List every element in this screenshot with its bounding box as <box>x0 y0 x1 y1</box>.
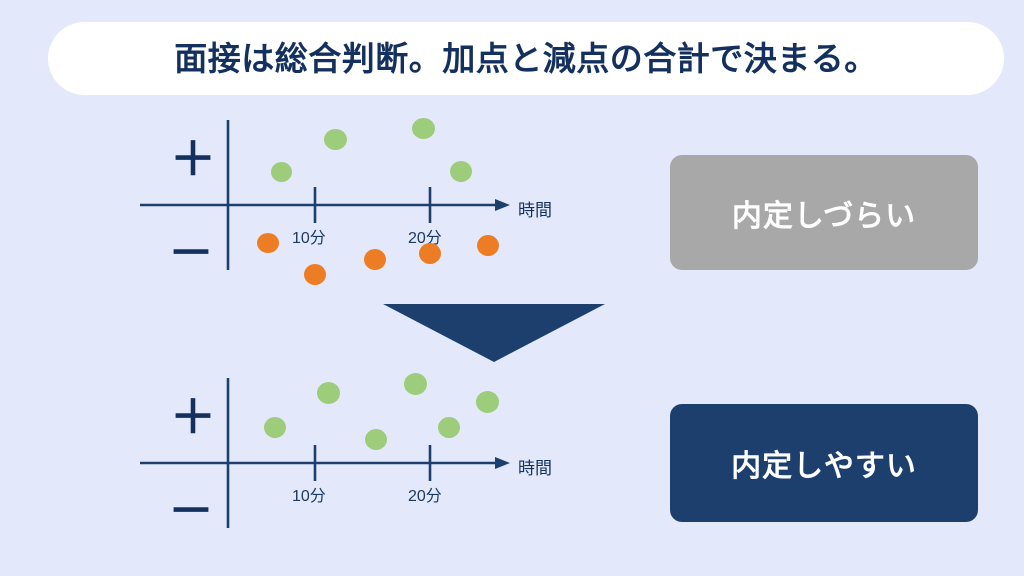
tick-label-10min-before: 10分 <box>292 224 326 248</box>
minus-sign-before: － <box>168 230 214 276</box>
plus-sign-after: ＋ <box>170 394 216 440</box>
data-point-orange <box>304 264 326 285</box>
axis-label-time-before: 時間 <box>518 196 552 221</box>
slide-root: 面接は総合判断。加点と減点の合計で決まる。 ＋ － 10分 20分 時間 <box>0 0 1024 576</box>
status-badge-hard-label: 内定しづらい <box>732 191 916 235</box>
data-point-green <box>412 118 435 139</box>
data-point-green <box>365 429 387 450</box>
data-point-green <box>450 161 472 182</box>
downward-arrow-icon <box>383 304 605 362</box>
data-point-orange <box>364 249 386 270</box>
data-point-orange <box>477 235 499 256</box>
title-banner: 面接は総合判断。加点と減点の合計で決まる。 <box>48 22 1004 95</box>
plus-sign-before: ＋ <box>170 136 216 182</box>
tick-label-10min-after: 10分 <box>292 482 326 506</box>
status-badge-easy: 内定しやすい <box>670 404 978 522</box>
minus-sign-after: － <box>168 488 214 534</box>
axis-label-time-after: 時間 <box>518 454 552 479</box>
data-point-green <box>438 417 460 438</box>
data-point-green <box>476 391 499 413</box>
chart-before: ＋ － 10分 20分 時間 <box>140 112 560 302</box>
page-title: 面接は総合判断。加点と減点の合計で決まる。 <box>174 42 878 75</box>
tick-label-20min-after: 20分 <box>408 482 442 506</box>
data-point-green <box>317 382 340 404</box>
data-point-green <box>271 162 292 182</box>
data-point-orange <box>257 233 279 253</box>
data-point-green <box>324 129 347 150</box>
chart-after: ＋ － 10分 20分 時間 <box>140 370 560 560</box>
status-badge-easy-label: 内定しやすい <box>731 441 917 485</box>
status-badge-hard: 内定しづらい <box>670 155 978 270</box>
data-point-green <box>264 417 286 438</box>
data-point-orange <box>419 243 441 264</box>
data-point-green <box>404 373 427 395</box>
